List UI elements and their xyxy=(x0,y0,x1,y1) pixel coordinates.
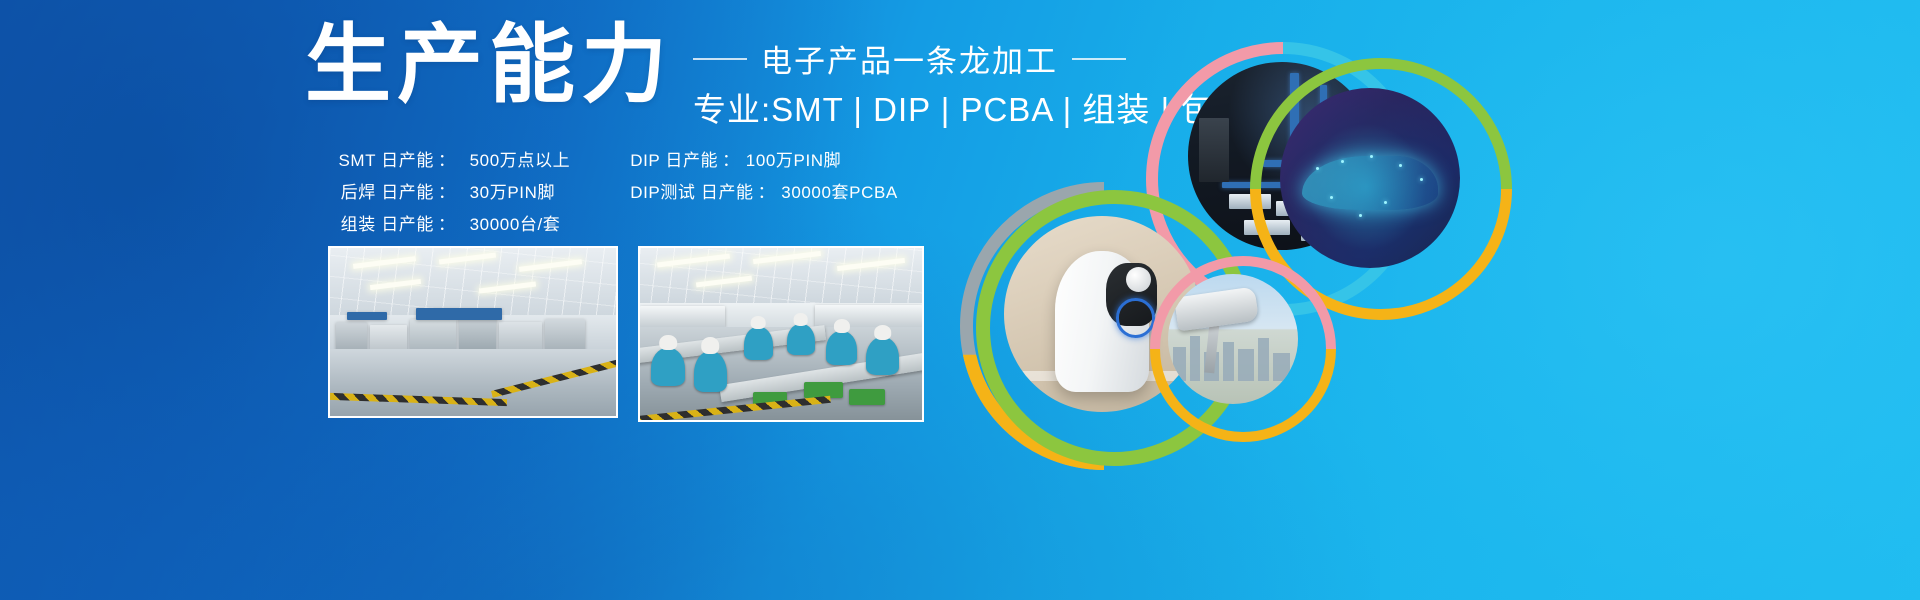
spec-row: SMT 日产能 ： 500万点以上 xyxy=(326,146,570,178)
camera-body xyxy=(1174,287,1259,332)
worker xyxy=(651,348,685,386)
photo-smt-line xyxy=(328,246,618,418)
car-silhouette xyxy=(1302,156,1439,210)
spec-label: SMT 日产能 xyxy=(326,146,434,171)
worker xyxy=(826,331,857,365)
spec-row: 后焊 日产能 ： 30万PIN脚 xyxy=(326,178,570,210)
production-capacity-banner: 生产能力 电子产品一条龙加工 专业:SMT | DIP | PCBA | 组装 … xyxy=(0,0,1920,600)
page-title: 生产能力 xyxy=(305,22,673,110)
spec-label: DIP测试 日产能 xyxy=(630,178,753,203)
building xyxy=(1238,349,1254,380)
spec-value: 100万PIN脚 xyxy=(744,146,842,171)
spec-column-right: DIP 日产能 ： 100万PIN脚 DIP测试 日产能 ： 30000套PCB… xyxy=(630,146,898,242)
spec-label: 后焊 日产能 xyxy=(326,178,434,203)
spec-label: 组装 日产能 xyxy=(326,210,434,235)
building xyxy=(1273,353,1290,380)
overhead-banner xyxy=(416,308,502,320)
photo-security-camera xyxy=(1168,274,1298,404)
worker xyxy=(694,351,728,392)
building xyxy=(1223,342,1235,381)
building xyxy=(1173,347,1186,381)
rule-left-icon xyxy=(693,58,747,60)
spec-colon: ： xyxy=(718,146,744,171)
node-dot xyxy=(1370,155,1373,158)
worker xyxy=(787,324,815,355)
spec-colon: ： xyxy=(754,178,780,203)
building xyxy=(1190,336,1200,380)
photo-automotive-tech xyxy=(1280,88,1460,268)
spec-colon: ： xyxy=(434,210,460,235)
spec-colon: ： xyxy=(434,178,460,203)
photo-assembly-line xyxy=(638,246,924,422)
node-dot xyxy=(1359,214,1362,217)
spec-label: DIP 日产能 xyxy=(630,146,718,171)
spec-value: 30000台/套 xyxy=(460,210,561,235)
spec-row: DIP测试 日产能 ： 30000套PCBA xyxy=(630,178,898,210)
component-tray xyxy=(804,382,843,397)
capacity-spec-list: SMT 日产能 ： 500万点以上 后焊 日产能 ： 30万PIN脚 组装 日产… xyxy=(326,146,898,242)
node-dot xyxy=(1399,164,1402,167)
spec-value: 500万点以上 xyxy=(460,146,571,171)
floor xyxy=(330,349,616,416)
worker xyxy=(866,337,900,375)
building xyxy=(1258,338,1270,381)
spec-row: 组装 日产能 ： 30000台/套 xyxy=(326,210,570,242)
fryer-indicator-ring xyxy=(1116,298,1155,337)
worker xyxy=(744,327,772,360)
product-circle-cluster xyxy=(950,20,1470,420)
spec-column-left: SMT 日产能 ： 500万点以上 后焊 日产能 ： 30万PIN脚 组装 日产… xyxy=(326,146,570,242)
equipment-rack xyxy=(640,306,725,327)
overhead-banner xyxy=(347,312,387,320)
spec-value: 30万PIN脚 xyxy=(460,178,555,203)
equipment-rack xyxy=(815,305,922,327)
spec-value: 30000套PCBA xyxy=(779,178,898,203)
spec-row: DIP 日产能 ： 100万PIN脚 xyxy=(630,146,898,178)
machine-column xyxy=(1199,118,1229,182)
spec-colon: ： xyxy=(434,146,460,171)
component-tray xyxy=(849,389,886,404)
